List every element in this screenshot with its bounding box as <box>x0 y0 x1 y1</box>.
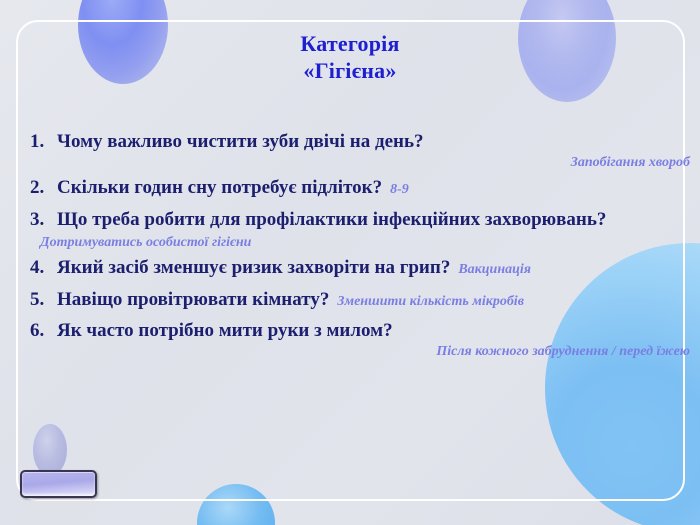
question-answer: 8-9 <box>390 182 409 198</box>
question-number: 6. <box>30 320 57 342</box>
question-text: Який засіб зменшує ризик захворіти на гр… <box>57 254 450 283</box>
navigation-button[interactable] <box>20 470 97 498</box>
question-text: Чому важливо чистити зуби двічі на день? <box>57 128 424 157</box>
title-line-1: Категорія <box>0 31 700 58</box>
slide-content: Категорія «Гігієна» 1. Чому важливо чист… <box>0 0 700 525</box>
question-answer: Зменшити кількість мікробів <box>337 294 524 310</box>
question-list: 1. Чому важливо чистити зуби двічі на де… <box>30 128 690 363</box>
question-text: Навіщо провітрювати кімнату? <box>57 286 329 315</box>
list-item: 3. Що треба робити для профілактики інфе… <box>30 206 690 251</box>
list-item: 2. Скільки годин сну потребує підліток? … <box>30 174 690 203</box>
question-text: Що треба робити для профілактики інфекці… <box>57 206 606 235</box>
question-text: Як часто потрібно мити руки з милом? <box>57 317 393 346</box>
question-answer: Дотримуватись особистої гігієни <box>40 235 251 251</box>
list-item: 1. Чому важливо чистити зуби двічі на де… <box>30 128 690 171</box>
question-number: 2. <box>30 177 57 199</box>
question-text: Скільки годин сну потребує підліток? <box>57 174 382 203</box>
list-item: 5. Навіщо провітрювати кімнату? Зменшити… <box>30 286 690 315</box>
question-answer: Запобігання хвороб <box>30 155 690 171</box>
question-number: 1. <box>30 131 57 153</box>
title-line-2: «Гігієна» <box>0 58 700 85</box>
slide-canvas: Категорія «Гігієна» 1. Чому важливо чист… <box>0 0 700 525</box>
question-number: 4. <box>30 257 57 279</box>
slide-title: Категорія «Гігієна» <box>0 31 700 85</box>
question-number: 5. <box>30 289 57 311</box>
question-number: 3. <box>30 209 57 231</box>
question-answer: Після кожного забруднення / перед їжею <box>30 344 690 360</box>
list-item: 6. Як часто потрібно мити руки з милом? … <box>30 317 690 360</box>
list-item: 4. Який засіб зменшує ризик захворіти на… <box>30 254 690 283</box>
question-answer: Вакцинація <box>458 262 531 278</box>
